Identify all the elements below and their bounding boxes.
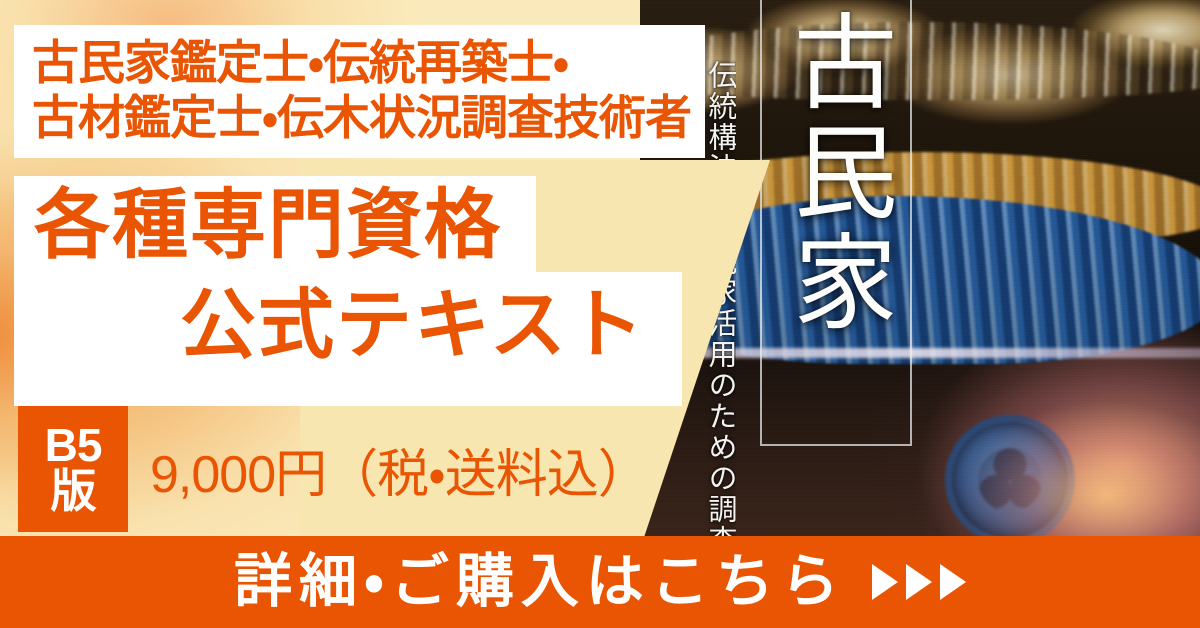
cta-arrow-group bbox=[872, 564, 966, 600]
qualifications-line-1: 古民家鑑定士・伝統再築士・ bbox=[14, 35, 582, 90]
headline-line-2: 公式テキスト bbox=[180, 288, 646, 364]
chevron-right-icon bbox=[872, 564, 898, 600]
price-row: B5版 9,000円（税・送料込） bbox=[18, 428, 649, 510]
headline-line-1: 各種専門資格 bbox=[34, 188, 502, 264]
qualifications-line-2: 古材鑑定士・伝木状況調査技術者 bbox=[14, 90, 705, 145]
qualifications-panel: 古民家鑑定士・伝統再築士・ 古材鑑定士・伝木状況調査技術者 bbox=[14, 25, 705, 158]
book-cover-title: 古民家 bbox=[783, 8, 893, 338]
chevron-right-icon bbox=[906, 564, 932, 600]
promo-banner: 古民家 伝統構法、古民家活用のための調査と再生の 古民家鑑定士・伝統再築士・ 古… bbox=[0, 0, 1200, 628]
price-amount: 9,000円（税・送料込） bbox=[150, 432, 649, 507]
cta-bar[interactable]: 詳細・ご購入はこちら bbox=[0, 536, 1200, 628]
cta-label: 詳細・ご購入はこちら bbox=[234, 553, 846, 611]
chevron-right-icon bbox=[940, 564, 966, 600]
format-badge: B5版 bbox=[18, 406, 128, 532]
